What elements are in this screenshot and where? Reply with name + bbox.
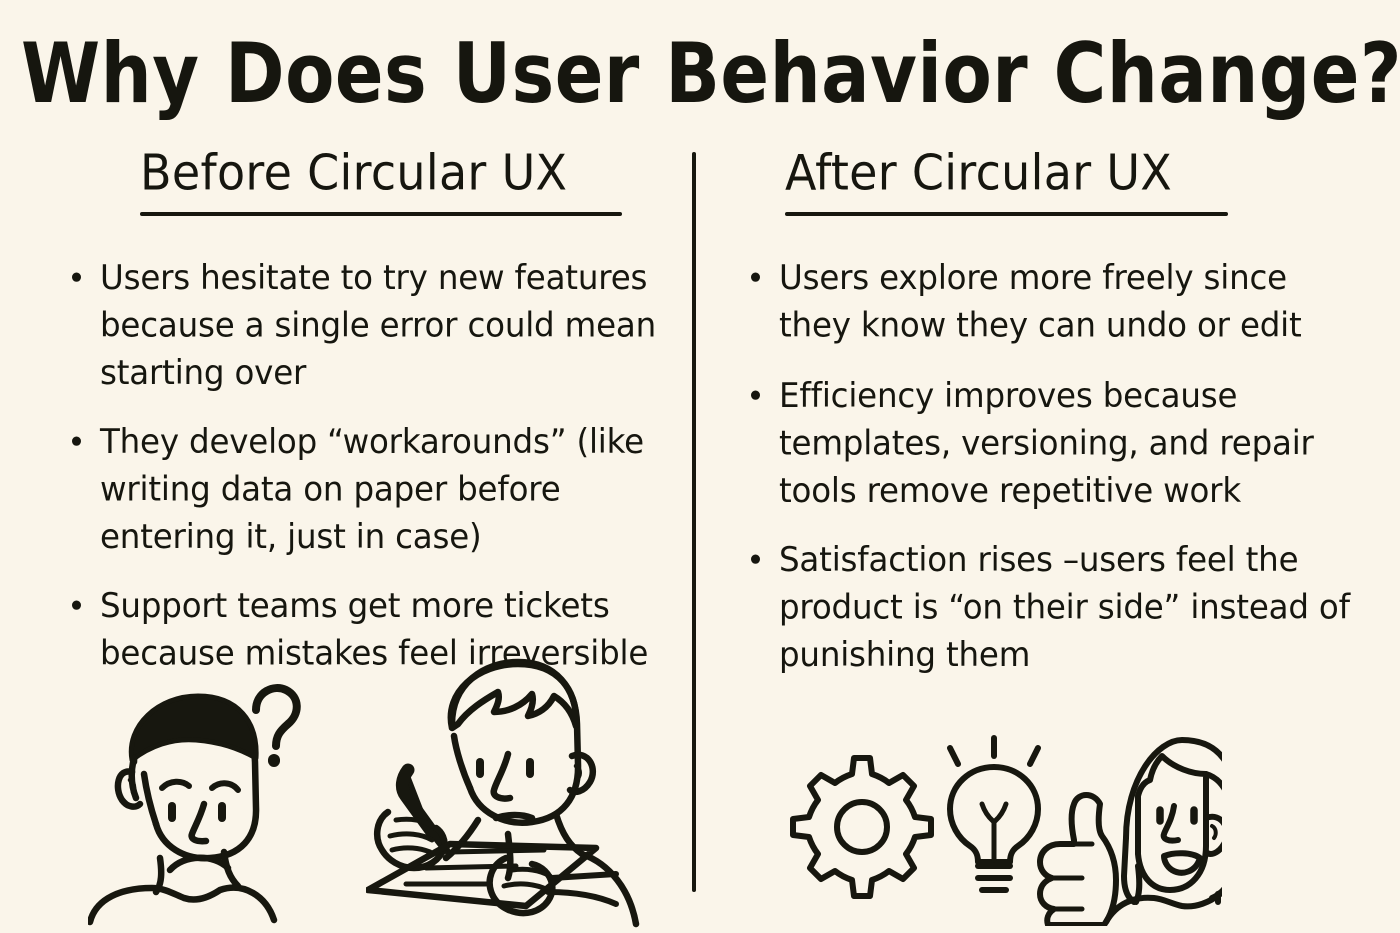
bullet-dot-icon — [751, 391, 760, 400]
person-writing-on-paper-illustration — [366, 652, 648, 932]
bullet-dot-icon — [72, 437, 81, 446]
bullet-dot-icon — [751, 273, 760, 282]
thumbs-up-icon — [1040, 795, 1116, 925]
bullet-dot-icon — [72, 273, 81, 282]
list-item-text: Users hesitate to try new features becau… — [100, 258, 656, 392]
list-item-text: They develop “workarounds” (like writing… — [100, 422, 644, 556]
list-item: Satisfaction rises –users feel the produ… — [735, 536, 1367, 678]
bullet-dot-icon — [72, 601, 81, 610]
slide-canvas: Why Does User Behavior Change? Before Ci… — [0, 0, 1400, 933]
heading-underline-before — [140, 212, 622, 216]
after-illustration-group — [782, 726, 1222, 926]
page-title: Why Does User Behavior Change? — [21, 26, 1379, 122]
column-heading-after: After Circular UX — [727, 144, 1367, 201]
gear-icon — [793, 758, 931, 896]
list-item-text: Satisfaction rises –users feel the produ… — [779, 540, 1350, 674]
list-item: Users hesitate to try new features becau… — [56, 254, 680, 396]
smiling-woman-illustration — [1106, 740, 1222, 922]
bullet-list-after: Users explore more freely since they kno… — [735, 254, 1367, 674]
list-item: Efficiency improves because templates, v… — [735, 372, 1367, 514]
column-before: Before Circular UX Users hesitate to try… — [40, 144, 680, 700]
column-heading-before: Before Circular UX — [40, 144, 680, 201]
vertical-divider — [692, 152, 696, 892]
bullet-list-before: Users hesitate to try new features becau… — [56, 254, 680, 674]
column-after: After Circular UX Users explore more fre… — [727, 144, 1367, 700]
list-item-text: Users explore more freely since they kno… — [779, 258, 1302, 345]
list-item: Users explore more freely since they kno… — [735, 254, 1367, 349]
lightbulb-icon — [950, 738, 1038, 890]
confused-man-illustration — [88, 676, 320, 926]
list-item-text: Efficiency improves because templates, v… — [779, 376, 1314, 510]
list-item: They develop “workarounds” (like writing… — [56, 418, 680, 560]
bullet-dot-icon — [751, 555, 760, 564]
heading-underline-after — [785, 212, 1228, 216]
